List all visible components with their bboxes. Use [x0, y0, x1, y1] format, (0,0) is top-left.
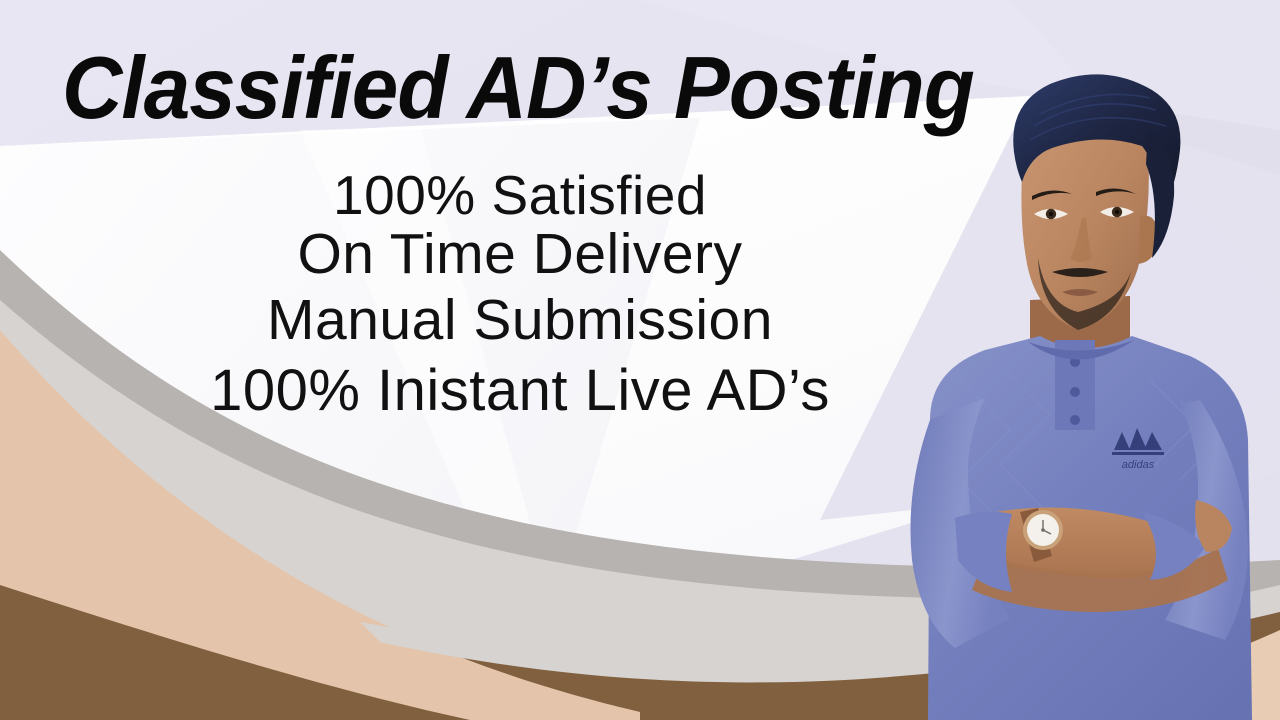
promotional-banner: adidas [0, 0, 1280, 720]
headline-title: Classified AD’s Posting [62, 42, 1022, 134]
bullet-item-1: 100% Satisfied [0, 168, 1040, 223]
bullet-item-2: On Time Delivery [0, 226, 1040, 283]
text-layer: Classified AD’s Posting 100% Satisfied O… [0, 0, 1280, 720]
bullet-item-4: 100% Inistant Live AD’s [0, 362, 1040, 420]
bullet-item-3: Manual Submission [0, 292, 1040, 349]
